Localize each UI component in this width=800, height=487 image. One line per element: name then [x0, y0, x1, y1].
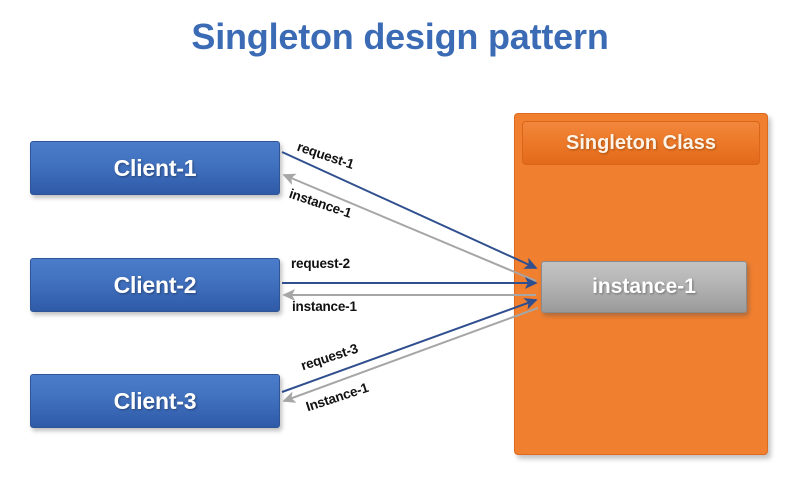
edge-label-instance-1-client-3: Instance-1	[304, 380, 370, 414]
singleton-class-header: Singleton Class	[522, 121, 760, 165]
page-title: Singleton design pattern	[0, 16, 800, 58]
instance-1-label: instance-1	[592, 275, 696, 299]
instance-1-box[interactable]: instance-1	[541, 261, 747, 313]
edge-label-instance-1-client-1: instance-1	[287, 186, 353, 221]
client-2-box[interactable]: Client-2	[30, 258, 280, 312]
edge-label-request-2: request-2	[291, 256, 350, 271]
client-2-label: Client-2	[114, 272, 197, 299]
edge-label-request-1: request-1	[295, 139, 356, 172]
diagram-canvas: Singleton design pattern Client-1 Client…	[0, 0, 800, 487]
client-3-label: Client-3	[114, 388, 197, 415]
edge-label-request-3: request-3	[299, 341, 360, 373]
edge-label-instance-1-client-2: instance-1	[292, 299, 357, 314]
client-1-box[interactable]: Client-1	[30, 141, 280, 195]
client-1-label: Client-1	[114, 155, 197, 182]
singleton-class-title: Singleton Class	[566, 132, 716, 155]
client-3-box[interactable]: Client-3	[30, 374, 280, 428]
